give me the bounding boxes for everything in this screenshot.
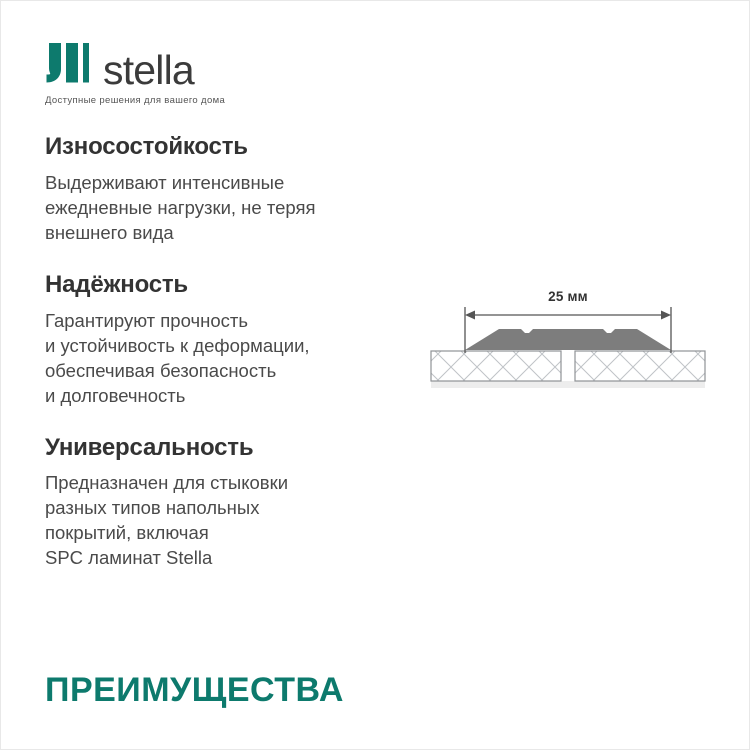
stella-bars-logo-icon: [45, 43, 91, 88]
brand-wordmark: stella: [103, 50, 194, 91]
feature-title: Износостойкость: [45, 133, 405, 162]
feature-item-durability: Износостойкость Выдерживают интенсивные …: [45, 133, 405, 245]
logo-row: stella: [45, 45, 375, 89]
brand-tagline: Доступные решения для вашего дома: [45, 95, 375, 106]
feature-title: Универсальность: [45, 434, 405, 463]
feature-item-reliability: Надёжность Гарантируют прочность и устой…: [45, 271, 405, 408]
floor-panel-left: [431, 351, 561, 381]
floor-panel-right: [575, 351, 705, 381]
transition-profile: [465, 329, 671, 350]
feature-list: Износостойкость Выдерживают интенсивные …: [45, 133, 405, 570]
feature-item-versatility: Универсальность Предназначен для стыковк…: [45, 434, 405, 571]
feature-body: Гарантируют прочность и устойчивость к д…: [45, 308, 405, 408]
feature-body: Предназначен для стыковки разных типов н…: [45, 470, 405, 570]
feature-body: Выдерживают интенсивные ежедневные нагру…: [45, 170, 405, 245]
dimension-label: 25 мм: [425, 289, 711, 304]
page-title: ПРЕИМУЩЕСТВА: [45, 673, 344, 707]
brand-logo: stella Доступные решения для вашего дома: [45, 45, 375, 106]
feature-title: Надёжность: [45, 271, 405, 300]
subfloor-base: [431, 381, 705, 388]
transition-profile-cross-section: 25 мм: [425, 289, 711, 393]
promo-slide: stella Доступные решения для вашего дома…: [0, 0, 750, 750]
